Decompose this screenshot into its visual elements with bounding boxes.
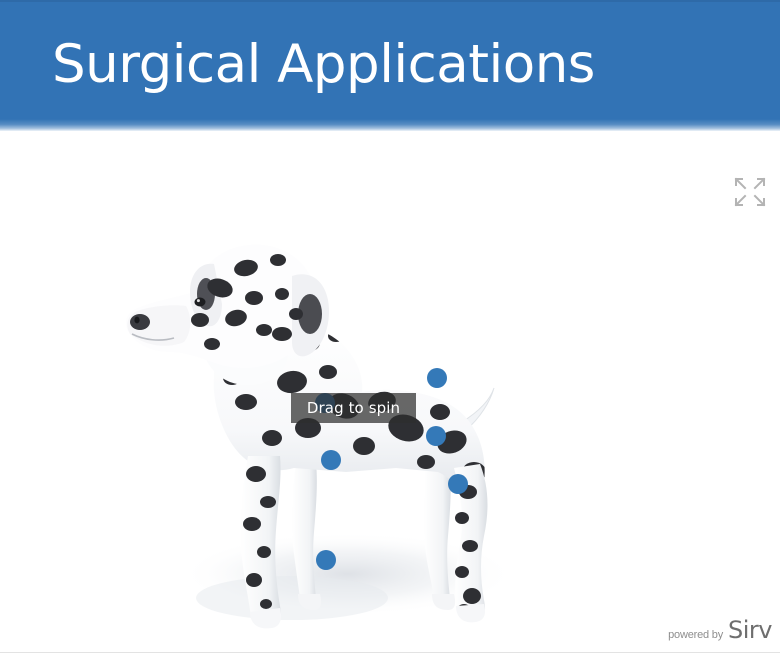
drag-to-spin-hint: Drag to spin	[291, 393, 416, 423]
hotspot-marker[interactable]	[426, 426, 446, 446]
model-viewer-stage[interactable]: Drag to spin powered by Sirv	[0, 131, 780, 652]
hotspot-marker[interactable]	[448, 474, 468, 494]
sirv-logo: Sirv	[728, 618, 772, 642]
header-banner: Surgical Applications	[0, 0, 780, 131]
fullscreen-button[interactable]	[730, 173, 770, 211]
sirv-branding[interactable]: powered by Sirv	[668, 618, 772, 642]
powered-by-label: powered by	[668, 629, 723, 641]
expand-arrows-icon	[730, 173, 770, 211]
hotspot-marker[interactable]	[321, 450, 341, 470]
slide-page: Surgical Applications	[0, 0, 780, 653]
page-title: Surgical Applications	[52, 38, 595, 91]
hotspot-marker[interactable]	[427, 368, 447, 388]
hotspot-marker[interactable]	[316, 550, 336, 570]
